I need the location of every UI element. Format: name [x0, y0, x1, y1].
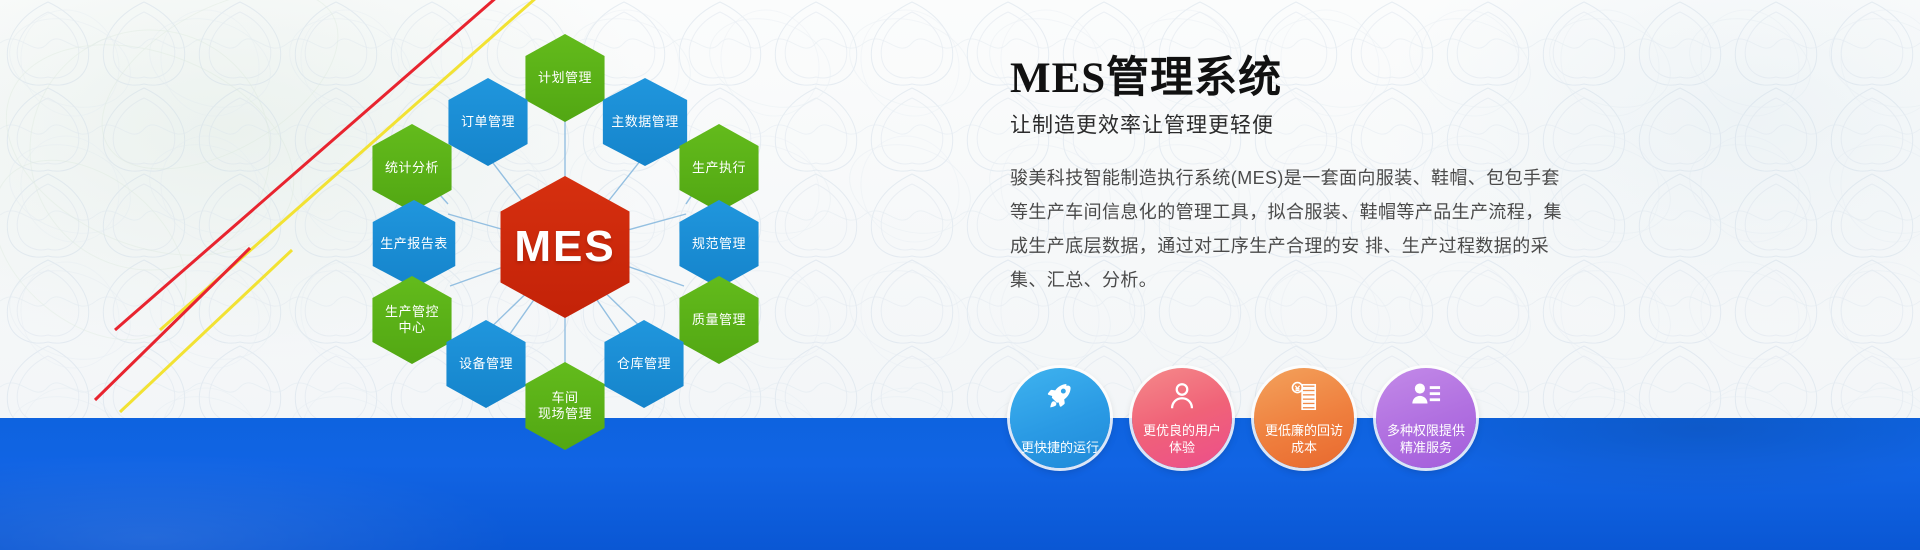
content-block: MES管理系统 让制造更效率让管理更轻便 骏美科技智能制造执行系统(MES)是一…: [1010, 55, 1610, 297]
hex-label: 生产执行: [692, 160, 746, 176]
badge-label-line2: 体验: [1143, 439, 1221, 456]
rocket-icon: [1043, 381, 1077, 411]
badge-permissions[interactable]: 多种权限提供 精准服务: [1376, 368, 1476, 468]
hex-label: 统计分析: [385, 160, 439, 176]
mes-core-label: MES: [514, 239, 615, 255]
badge-label-line1: 多种权限提供: [1387, 422, 1465, 439]
badge-label-line1: 更低廉的回访: [1265, 422, 1343, 439]
user-icon: [1165, 381, 1199, 411]
page-subtitle: 让制造更效率让管理更轻便: [1010, 109, 1610, 139]
hex-label: 仓库管理: [617, 356, 671, 372]
page-title: MES管理系统: [1010, 55, 1610, 103]
money-stack-icon: [1287, 381, 1321, 411]
badge-lower-cost[interactable]: 更低廉的回访 成本: [1254, 368, 1354, 468]
hex-label: 生产报告表: [380, 236, 448, 252]
hex-label-line2: 中心: [398, 320, 425, 336]
hex-label: 主数据管理: [611, 114, 679, 130]
mes-hex-diagram: 计划管理 订单管理 主数据管理 统计分析 生产执行 生产报告表 规范管理 生产管…: [330, 18, 800, 438]
hex-label: 订单管理: [461, 114, 515, 130]
mes-banner: 计划管理 订单管理 主数据管理 统计分析 生产执行 生产报告表 规范管理 生产管…: [0, 0, 1920, 550]
hex-label: 质量管理: [692, 312, 746, 328]
hex-label-line1: 生产管控: [385, 304, 439, 320]
hex-label: 规范管理: [692, 236, 746, 252]
badge-label-line2: 精准服务: [1387, 439, 1465, 456]
background-bottom-band: [0, 418, 1920, 550]
badge-label-line2: 成本: [1265, 439, 1343, 456]
badge-label-line1: 更优良的用户: [1143, 422, 1221, 439]
hex-label: 计划管理: [538, 70, 592, 86]
hex-label-line1: 车间: [551, 390, 578, 406]
feature-badges: 更快捷的运行 更优良的用户 体验: [1010, 368, 1476, 468]
user-permission-icon: [1409, 381, 1443, 411]
hex-label: 设备管理: [459, 356, 513, 372]
badge-better-experience[interactable]: 更优良的用户 体验: [1132, 368, 1232, 468]
description-paragraph: 骏美科技智能制造执行系统(MES)是一套面向服装、鞋帽、包包手套等生产车间信息化…: [1010, 161, 1570, 297]
badge-faster-operation[interactable]: 更快捷的运行: [1010, 368, 1110, 468]
hex-label-line2: 现场管理: [538, 406, 592, 422]
badge-label-line1: 更快捷的运行: [1021, 439, 1099, 456]
